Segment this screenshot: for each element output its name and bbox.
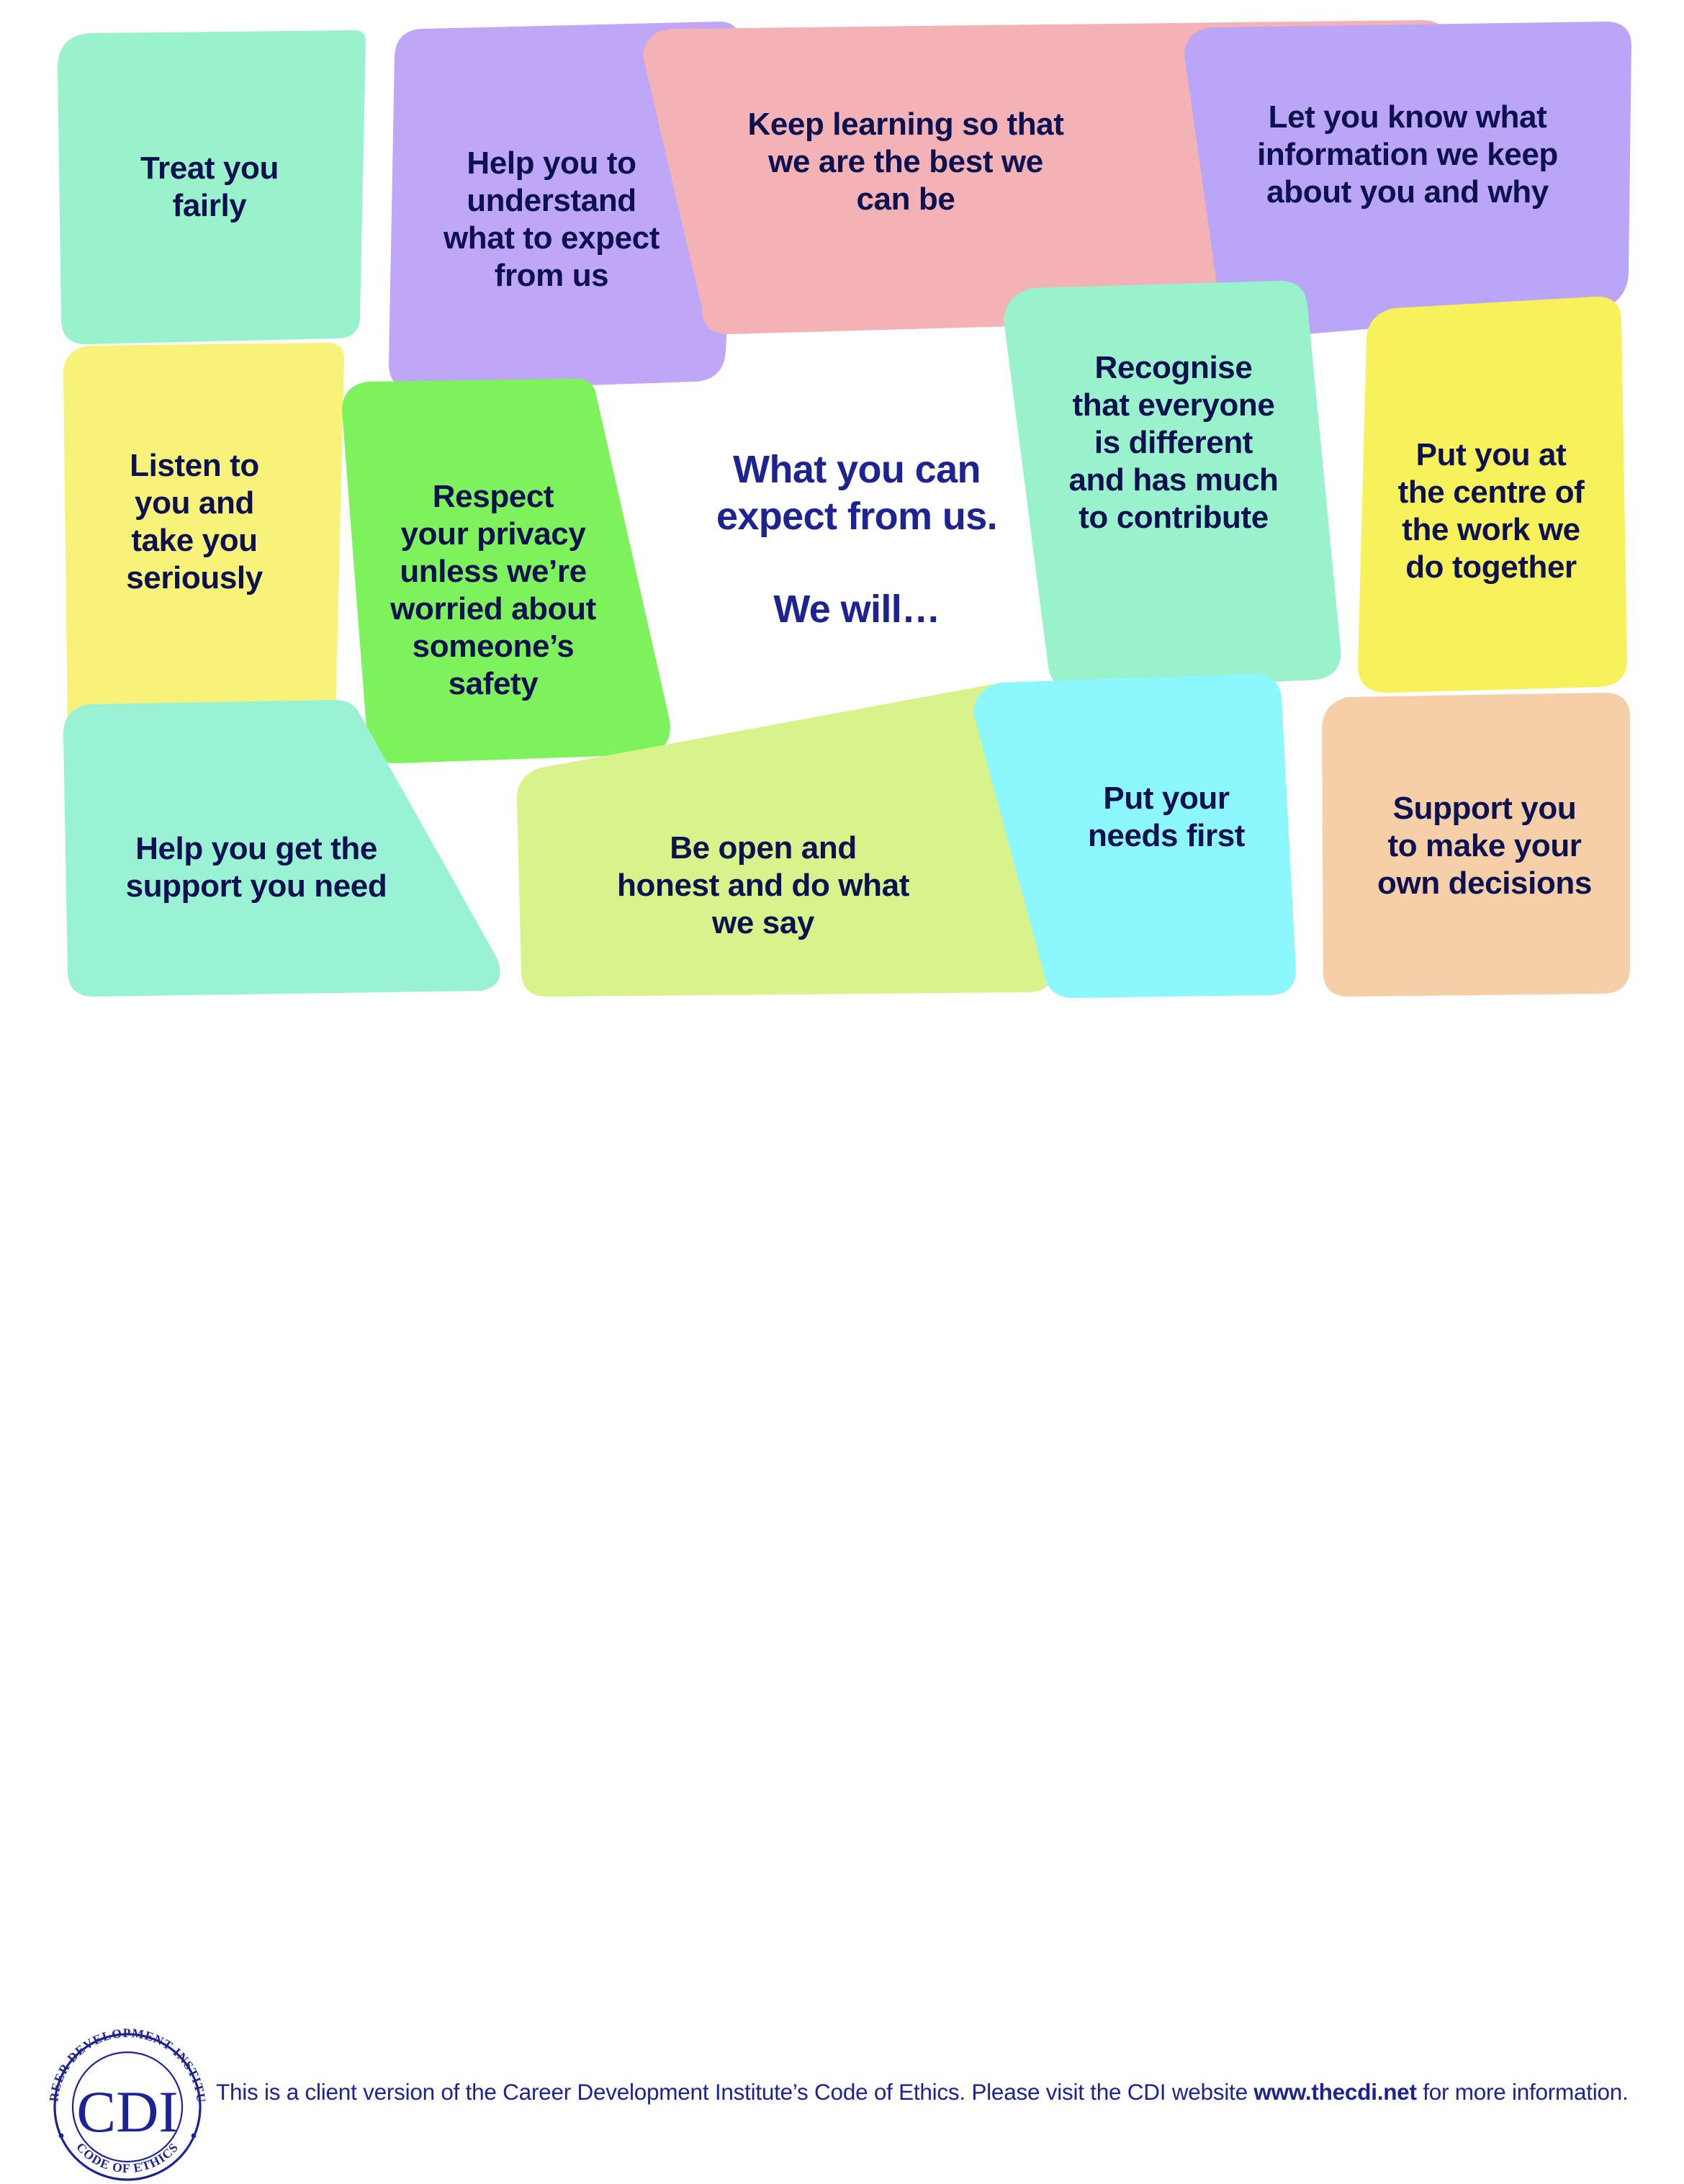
footer-website: www.thecdi.net xyxy=(1253,2079,1416,2105)
tile-label-let-you-know-information: Let you know what information we keep ab… xyxy=(1224,86,1591,223)
tile-label-put-you-at-the-centre: Put you at the centre of the work we do … xyxy=(1372,425,1610,598)
tile-label-support-your-decisions: Support you to make your own decisions xyxy=(1341,778,1629,915)
logo-monogram: CDI xyxy=(76,2079,178,2144)
footer: CAREER DEVELOPMENT INSTITUTE CODE OF ETH… xyxy=(0,1008,1684,1191)
footer-note-before: This is a client version of the Career D… xyxy=(216,2079,1253,2105)
logo-dot-right xyxy=(192,2134,197,2139)
tile-label-help-you-get-support: Help you get the support you need xyxy=(84,821,429,915)
code-of-ethics-poster: Treat you fairly Help you to understand … xyxy=(0,0,1684,1191)
tile-label-be-open-honest: Be open and honest and do what we say xyxy=(547,817,979,954)
footer-note: This is a client version of the Career D… xyxy=(216,2079,1663,2106)
center-heading: What you can expect from us. We will… xyxy=(634,446,1080,633)
footer-note-after: for more information. xyxy=(1417,2079,1629,2105)
cdi-code-of-ethics-logo: CAREER DEVELOPMENT INSTITUTE CODE OF ETH… xyxy=(37,2022,217,2184)
tile-label-put-your-needs-first: Put your needs first xyxy=(1051,770,1282,864)
tile-label-help-you-understand: Help you to understand what to expect fr… xyxy=(400,130,703,310)
tile-label-respect-your-privacy: Respect your privacy unless we’re worrie… xyxy=(360,468,626,713)
logo-dot-left xyxy=(59,2134,64,2139)
tile-label-keep-learning: Keep learning so that we are the best we… xyxy=(726,94,1086,230)
tile-label-listen-to-you: Listen to you and take you seriously xyxy=(79,439,310,605)
tile-label-treat-you-fairly: Treat you fairly xyxy=(69,122,350,252)
